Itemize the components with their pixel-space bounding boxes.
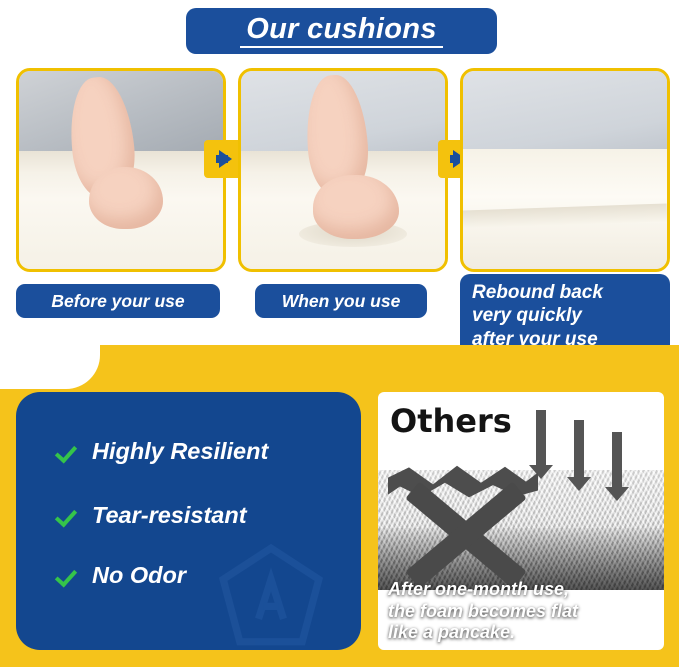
caption-text-line-2: very quickly bbox=[472, 304, 582, 327]
caption-when-you-use: When you use bbox=[255, 284, 427, 318]
check-icon bbox=[56, 505, 78, 527]
page-title-banner: Our cushions bbox=[186, 8, 497, 54]
feature-item-3: No Odor bbox=[56, 562, 186, 589]
check-icon bbox=[56, 565, 78, 587]
photo-row bbox=[0, 68, 679, 268]
others-caption-line-3: like a pancake. bbox=[388, 622, 660, 644]
photo-foot-pressing-foam-during bbox=[238, 68, 448, 272]
promo-infographic: Our cushions Before your use bbox=[0, 0, 679, 667]
feature-label: Tear-resistant bbox=[92, 502, 247, 529]
caption-before-use: Before your use bbox=[16, 284, 220, 318]
check-icon bbox=[56, 441, 78, 463]
down-arrow-icon-3 bbox=[612, 432, 622, 488]
others-caption-line-2: the foam becomes flat bbox=[388, 601, 660, 623]
page-title: Our cushions bbox=[240, 14, 443, 47]
photo-foam-rebounded bbox=[460, 68, 670, 272]
others-caption: After one-month use, the foam becomes fl… bbox=[388, 579, 660, 644]
arrow-glyph bbox=[219, 150, 232, 168]
yellow-band-notch bbox=[0, 345, 100, 389]
caption-text: When you use bbox=[282, 291, 401, 312]
house-badge-watermark-icon bbox=[216, 544, 326, 648]
caption-text-line-1: Rebound back bbox=[472, 281, 603, 304]
feature-item-2: Tear-resistant bbox=[56, 502, 247, 529]
arrow-right-icon-1 bbox=[204, 140, 242, 178]
feature-item-1: Highly Resilient bbox=[56, 438, 268, 465]
down-arrow-icon-2 bbox=[574, 420, 584, 478]
big-x-mark-icon bbox=[396, 478, 532, 588]
feature-label: No Odor bbox=[92, 562, 186, 589]
feature-label: Highly Resilient bbox=[92, 438, 268, 465]
features-panel: Highly Resilient Tear-resistant No Odor bbox=[16, 392, 361, 650]
down-arrow-icon-1 bbox=[536, 410, 546, 466]
foot-shape-lower bbox=[89, 167, 163, 229]
foam-block bbox=[463, 149, 667, 269]
photo-foot-pressing-foam-before bbox=[16, 68, 226, 272]
foot-shape-lower bbox=[313, 175, 399, 239]
foam-top-edge bbox=[463, 203, 668, 228]
others-title: Others bbox=[390, 402, 512, 440]
caption-text: Before your use bbox=[51, 291, 184, 312]
others-caption-line-1: After one-month use, bbox=[388, 579, 660, 601]
others-panel: Others After one-month use, the foam bec… bbox=[378, 392, 664, 650]
